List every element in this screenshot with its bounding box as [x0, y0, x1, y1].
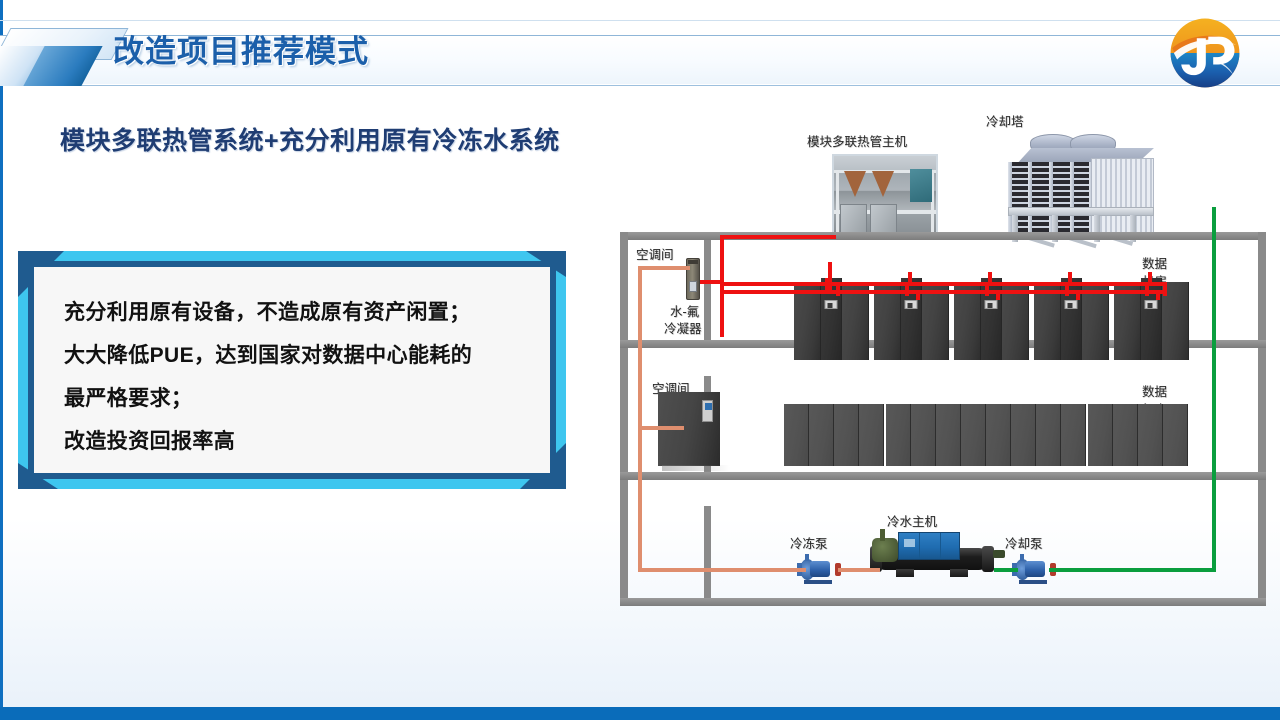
- equipment-cooling-tower: [1008, 134, 1154, 242]
- table-row: [859, 404, 884, 466]
- table-row: [961, 404, 986, 466]
- building-right-wall: [1258, 232, 1266, 606]
- label-cooling-pump: 冷却泵: [1005, 536, 1043, 552]
- table-row: [1138, 404, 1163, 466]
- building-left-wall: [620, 232, 628, 606]
- table-row: [911, 404, 936, 466]
- table-row: [809, 404, 834, 466]
- table-row: [1036, 404, 1061, 466]
- page-title: 改造项目推荐模式: [113, 26, 369, 71]
- table-row: [834, 404, 859, 466]
- label-cooling-tower: 冷却塔: [986, 114, 1024, 130]
- header-rule-top: [0, 20, 1280, 21]
- photo-heat-pipe-main-unit: [832, 154, 938, 240]
- building-roof-slab: [620, 232, 1266, 240]
- equipment-water-chiller: [870, 524, 1000, 580]
- slide-subtitle: 模块多联热管系统+充分利用原有冷冻水系统: [60, 121, 560, 157]
- building-divider-floor3: [704, 506, 711, 606]
- label-chilled-pump: 冷冻泵: [790, 536, 828, 552]
- callout-line-3: 最严格要求；: [64, 377, 542, 420]
- label-heat-pipe-unit: 模块多联热管主机: [807, 134, 907, 150]
- table-row: [986, 404, 1011, 466]
- table-row: [1011, 404, 1036, 466]
- building-divider-floor1: [704, 240, 711, 340]
- callout-text: 充分利用原有设备，不造成原有资产闲置； 大大降低PUE，达到国家对数据中心能耗的…: [64, 291, 542, 463]
- label-condenser-line1: 水-氟: [670, 304, 699, 320]
- building-floor-slab-3: [620, 598, 1266, 606]
- table-row: [784, 404, 809, 466]
- header-rule-bottom: [0, 85, 1280, 86]
- table-row: [1061, 404, 1086, 466]
- equipment-cooling-water-pump: [1015, 559, 1053, 581]
- table-row: [1113, 404, 1138, 466]
- footer-accent-bar: [0, 707, 1280, 720]
- table-row: [1163, 404, 1188, 466]
- callout-line-2: 大大降低PUE，达到国家对数据中心能耗的: [64, 334, 542, 377]
- table-row: [1088, 404, 1113, 466]
- label-ac-room-floor1: 空调间: [636, 247, 674, 263]
- system-schematic-diagram: 模块多联热管主机 冷却塔: [612, 104, 1272, 616]
- label-condenser-line2: 冷凝器: [664, 321, 702, 337]
- callout-box: 充分利用原有设备，不造成原有资产闲置； 大大降低PUE，达到国家对数据中心能耗的…: [18, 251, 566, 489]
- label-data-room-floor1-line1: 数据: [1142, 256, 1167, 272]
- equipment-water-fluorine-condenser: [686, 258, 700, 300]
- callout-line-1: 充分利用原有设备，不造成原有资产闲置；: [64, 291, 542, 334]
- slide-canvas: 改造项目推荐模式 模块多联热管系统: [0, 0, 1280, 720]
- callout-line-4: 改造投资回报率高: [64, 420, 542, 463]
- left-edge-accent: [0, 0, 3, 720]
- jp-company-logo: [1164, 12, 1246, 94]
- building-floor-slab-2: [620, 472, 1266, 480]
- table-row: [886, 404, 911, 466]
- table-row: [936, 404, 961, 466]
- label-data-room-floor2-line1: 数据: [1142, 384, 1167, 400]
